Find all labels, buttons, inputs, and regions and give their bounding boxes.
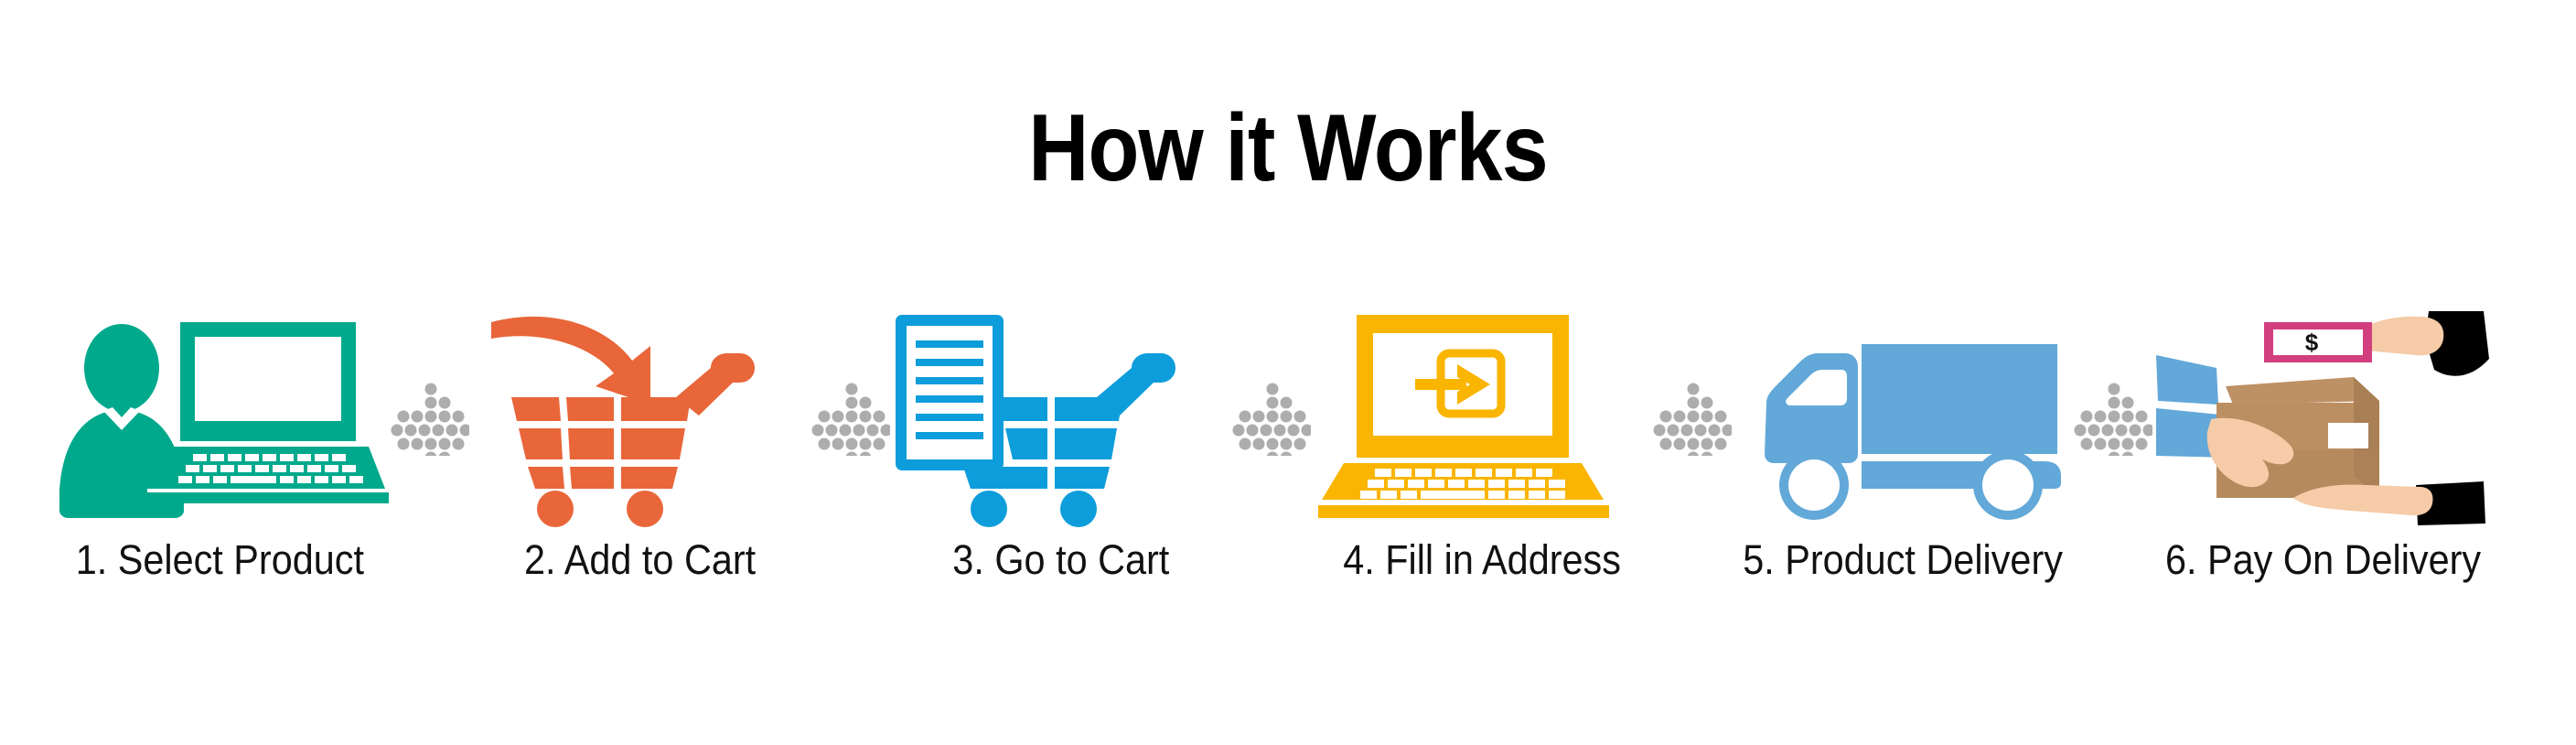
dotted-arrow-right-icon <box>811 383 890 456</box>
separator-4 <box>1651 302 1733 531</box>
step-3-label: 3. Go to Cart <box>952 536 1169 584</box>
hands-box-money-icon: $ <box>2154 302 2493 531</box>
infographic-page: How it Works <box>0 0 2576 745</box>
step-5-label: 5. Product Delivery <box>1743 536 2063 584</box>
cart-with-arrow-icon <box>471 302 810 531</box>
step-6-pay-on-delivery[interactable]: $ <box>2154 302 2493 584</box>
dotted-arrow-right-icon <box>1653 383 1732 456</box>
step-4-fill-in-address[interactable]: 4. Fill in Address <box>1313 302 1651 584</box>
cart-with-arrow-icon-container <box>471 302 810 531</box>
laptop-login-icon <box>1313 302 1651 531</box>
document-cart-icon <box>892 302 1230 531</box>
dotted-arrow-right-icon <box>2074 383 2152 456</box>
step-1-select-product[interactable]: 1. Select Product <box>50 302 389 584</box>
separator-5 <box>2072 302 2154 531</box>
step-1-label: 1. Select Product <box>75 536 363 584</box>
dollar-symbol: $ <box>2305 329 2319 356</box>
hands-box-money-icon-container: $ <box>2154 302 2493 531</box>
separator-2 <box>810 302 892 531</box>
page-title: How it Works <box>155 101 2421 196</box>
laptop-login-icon-container <box>1313 302 1651 531</box>
dotted-arrow-right-icon <box>391 383 469 456</box>
delivery-truck-icon <box>1733 302 2072 531</box>
separator-1 <box>389 302 471 531</box>
step-5-product-delivery[interactable]: 5. Product Delivery <box>1733 302 2072 584</box>
separator-3 <box>1230 302 1313 531</box>
step-2-add-to-cart[interactable]: 2. Add to Cart <box>471 302 810 584</box>
box-label <box>2328 423 2368 448</box>
hand-open-palm <box>2293 485 2433 516</box>
person-laptop-icon <box>50 302 389 531</box>
banknote-icon: $ <box>2264 322 2372 362</box>
step-3-go-to-cart[interactable]: 3. Go to Cart <box>892 302 1230 584</box>
delivery-truck-icon-container <box>1733 302 2072 531</box>
steps-row: 1. Select Product <box>50 302 2538 632</box>
step-4-label: 4. Fill in Address <box>1343 536 1621 584</box>
sleeve-blue-upper <box>2156 355 2218 405</box>
document-cart-icon-container <box>892 302 1230 531</box>
person-laptop-icon-container <box>50 302 389 531</box>
step-6-label: 6. Pay On Delivery <box>2165 536 2481 584</box>
step-2-label: 2. Add to Cart <box>524 536 756 584</box>
dotted-arrow-right-icon <box>1232 383 1311 456</box>
